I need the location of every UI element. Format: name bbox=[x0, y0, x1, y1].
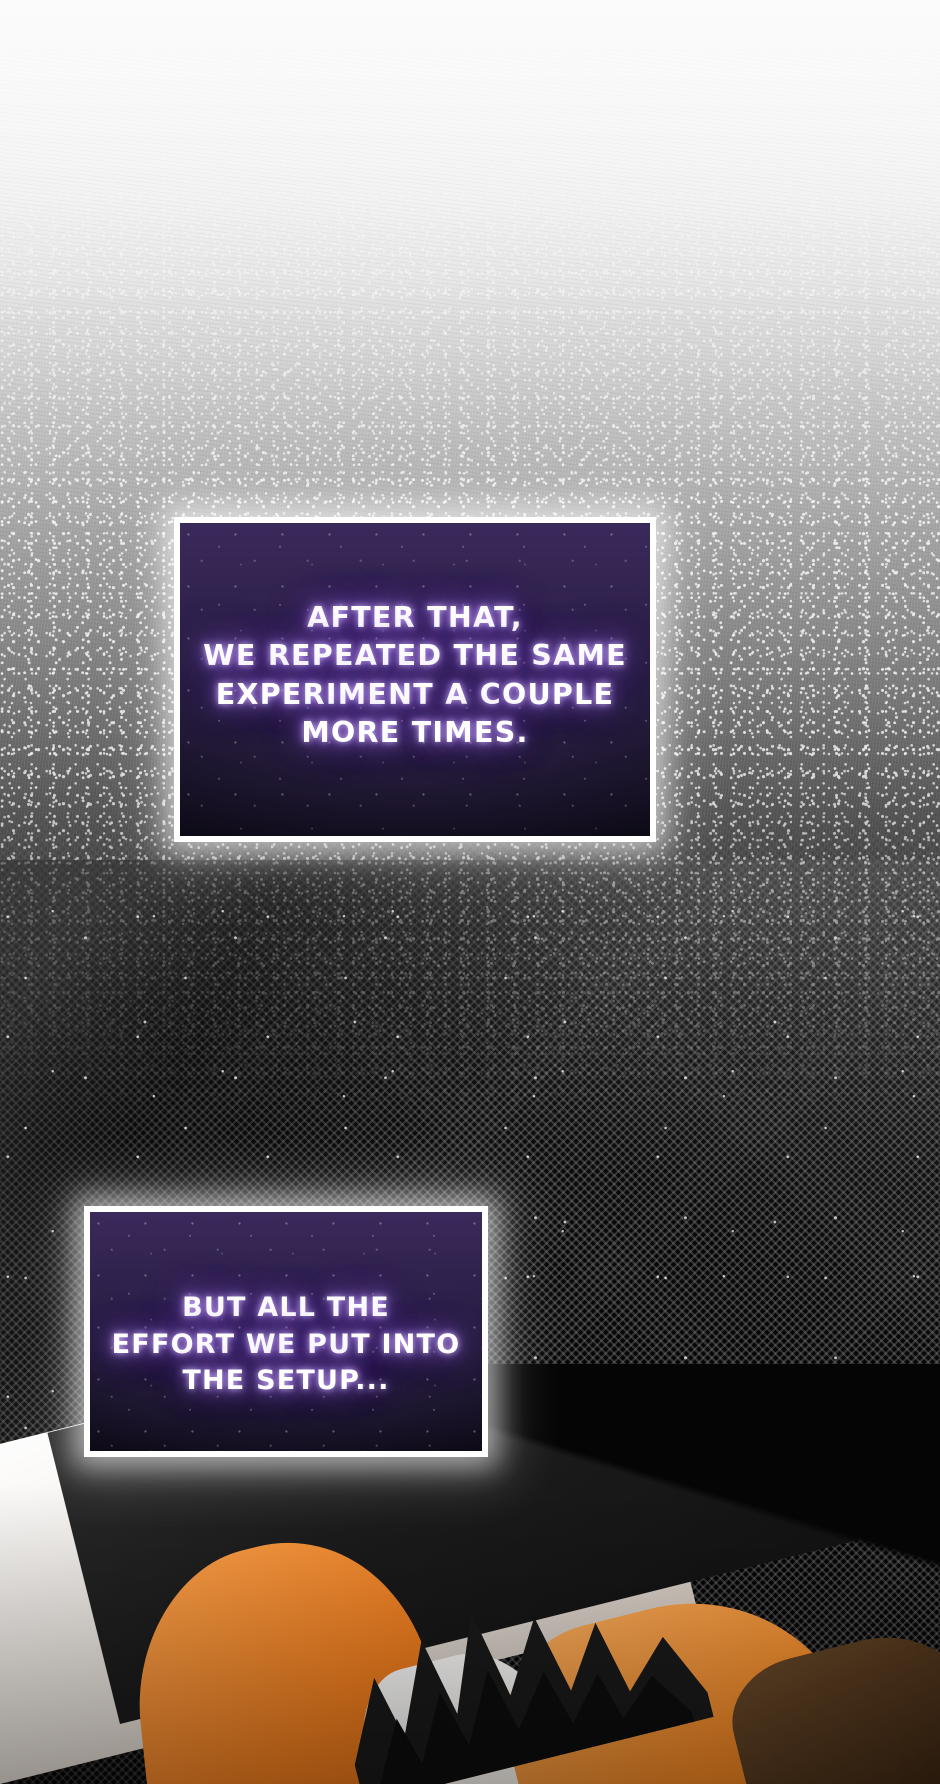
comic-panel-page: AFTER THAT, WE REPEATED THE SAME EXPERIM… bbox=[0, 0, 940, 1784]
narration-box-after-that: AFTER THAT, WE REPEATED THE SAME EXPERIM… bbox=[174, 517, 656, 842]
narration-text-after-that: AFTER THAT, WE REPEATED THE SAME EXPERIM… bbox=[180, 599, 650, 836]
narration-text-but-all-the: BUT ALL THE EFFORT WE PUT INTO THE SETUP… bbox=[90, 1290, 482, 1451]
narration-box-but-all-the: BUT ALL THE EFFORT WE PUT INTO THE SETUP… bbox=[84, 1206, 488, 1457]
